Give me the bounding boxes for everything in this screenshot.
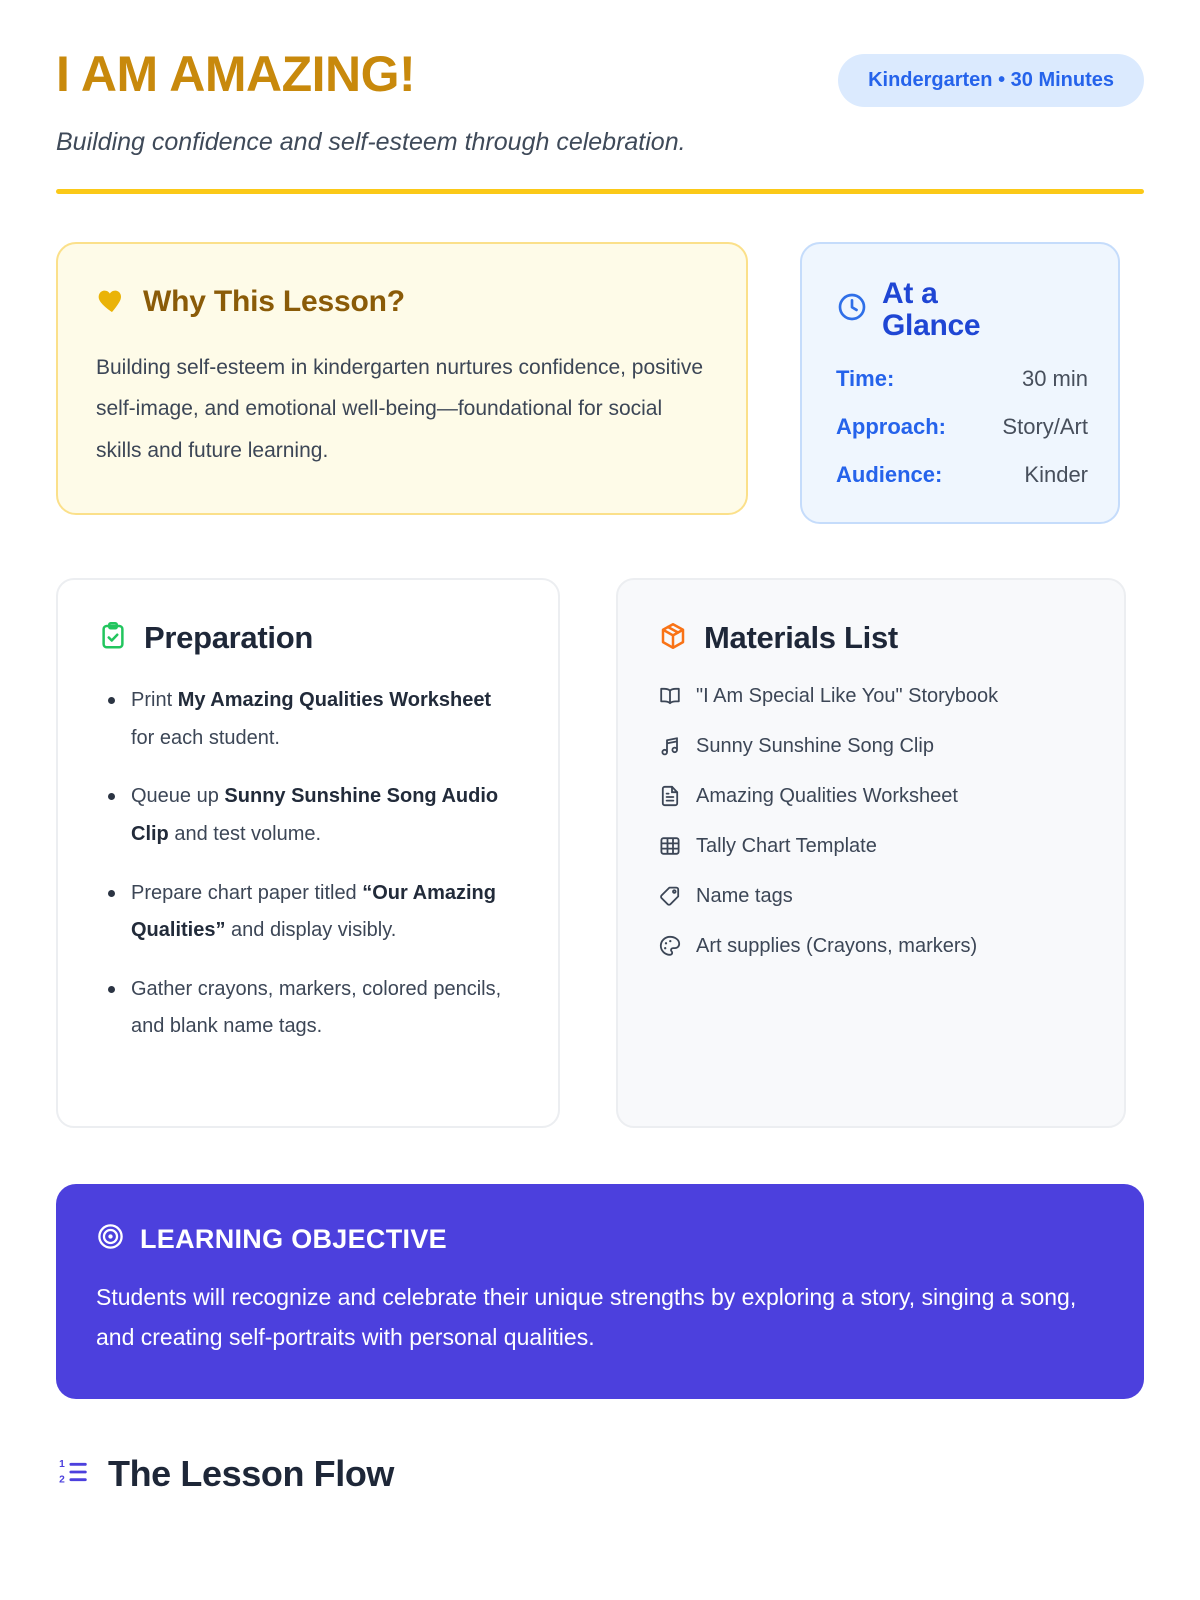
heart-icon [96,284,128,321]
list-item: Art supplies (Crayons, markers) [658,932,1084,960]
prep-text-bold: My Amazing Qualities Worksheet [178,689,491,711]
glance-row-time: Time: 30 min [836,366,1088,392]
list-item: Prepare chart paper titled “Our Amazing … [98,875,518,950]
prep-text-post: and test volume. [169,823,321,845]
glance-key: Time: [836,366,894,392]
preparation-card-header: Preparation [98,620,518,656]
material-label: Amazing Qualities Worksheet [696,782,958,810]
list-item: Tally Chart Template [658,832,1084,860]
overview-row: Why This Lesson? Building self-esteem in… [56,242,1144,525]
material-label: Art supplies (Crayons, markers) [696,932,977,960]
preparation-heading: Preparation [144,620,313,656]
svg-text:1: 1 [59,1459,65,1470]
page-subtitle: Building confidence and self-esteem thro… [56,126,1144,159]
materials-heading: Materials List [704,620,898,656]
music-note-icon [658,734,682,758]
prep-text-pre: Prepare chart paper titled [131,882,362,904]
at-a-glance-card: At a Glance Time: 30 min Approach: Story… [800,242,1120,525]
learning-objective-body: Students will recognize and celebrate th… [96,1278,1104,1357]
list-item: Amazing Qualities Worksheet [658,782,1084,810]
list-item: Name tags [658,882,1084,910]
at-a-glance-heading: At a Glance [882,278,1032,343]
material-label: Sunny Sunshine Song Clip [696,732,934,760]
why-card-header: Why This Lesson? [96,284,708,321]
why-card-heading: Why This Lesson? [143,285,405,319]
glance-value: Story/Art [1002,414,1088,440]
glance-value: 30 min [1022,366,1088,392]
prep-text-pre: Queue up [131,785,224,807]
glance-value: Kinder [1024,462,1088,488]
materials-card-header: Materials List [658,620,1084,656]
tag-icon [658,884,682,908]
list-item: Queue up Sunny Sunshine Song Audio Clip … [98,778,518,853]
header-divider [56,189,1144,194]
preparation-list: Print My Amazing Qualities Worksheet for… [98,682,518,1046]
material-label: Name tags [696,882,793,910]
glance-key: Approach: [836,414,946,440]
page-title: I AM AMAZING! [56,48,415,101]
lesson-flow-section-header: 1 2 The Lesson Flow [56,1453,1144,1495]
list-item: "I Am Special Like You" Storybook [658,682,1084,710]
at-a-glance-rows: Time: 30 min Approach: Story/Art Audienc… [836,366,1088,488]
learning-objective-heading: LEARNING OBJECTIVE [140,1224,447,1255]
materials-list: "I Am Special Like You" Storybook Sunny … [658,682,1084,960]
page-header: I AM AMAZING! Kindergarten • 30 Minutes [56,48,1144,107]
clock-icon [836,291,868,328]
ordered-list-icon: 1 2 [56,1455,90,1494]
package-icon [658,621,688,656]
lesson-flow-heading: The Lesson Flow [108,1453,394,1495]
why-this-lesson-card: Why This Lesson? Building self-esteem in… [56,242,748,516]
glance-key: Audience: [836,462,942,488]
prep-text-post: for each student. [131,727,280,749]
palette-icon [658,934,682,958]
prep-text-post: and display visibly. [225,919,396,941]
material-label: Tally Chart Template [696,832,877,860]
learning-objective-banner: LEARNING OBJECTIVE Students will recogni… [56,1184,1144,1399]
file-text-icon [658,784,682,808]
list-item: Gather crayons, markers, colored pencils… [98,971,518,1046]
preparation-card: Preparation Print My Amazing Qualities W… [56,578,560,1128]
at-a-glance-header: At a Glance [836,278,1088,343]
grade-duration-badge: Kindergarten • 30 Minutes [838,54,1144,107]
why-card-body: Building self-esteem in kindergarten nur… [96,347,708,472]
materials-list-card: Materials List "I Am Special Like You" S… [616,578,1126,1128]
material-label: "I Am Special Like You" Storybook [696,682,998,710]
glance-row-approach: Approach: Story/Art [836,414,1088,440]
table-grid-icon [658,834,682,858]
glance-row-audience: Audience: Kinder [836,462,1088,488]
lesson-plan-page: I AM AMAZING! Kindergarten • 30 Minutes … [0,0,1200,1600]
list-item: Sunny Sunshine Song Clip [658,732,1084,760]
svg-text:2: 2 [59,1474,65,1485]
book-open-icon [658,684,682,708]
list-item: Print My Amazing Qualities Worksheet for… [98,682,518,757]
clipboard-check-icon [98,621,128,656]
prep-materials-row: Preparation Print My Amazing Qualities W… [56,578,1144,1128]
learning-objective-header: LEARNING OBJECTIVE [96,1222,1104,1256]
target-icon [96,1222,125,1256]
prep-text-pre: Print [131,689,178,711]
prep-text-pre: Gather crayons, markers, colored pencils… [131,978,501,1038]
